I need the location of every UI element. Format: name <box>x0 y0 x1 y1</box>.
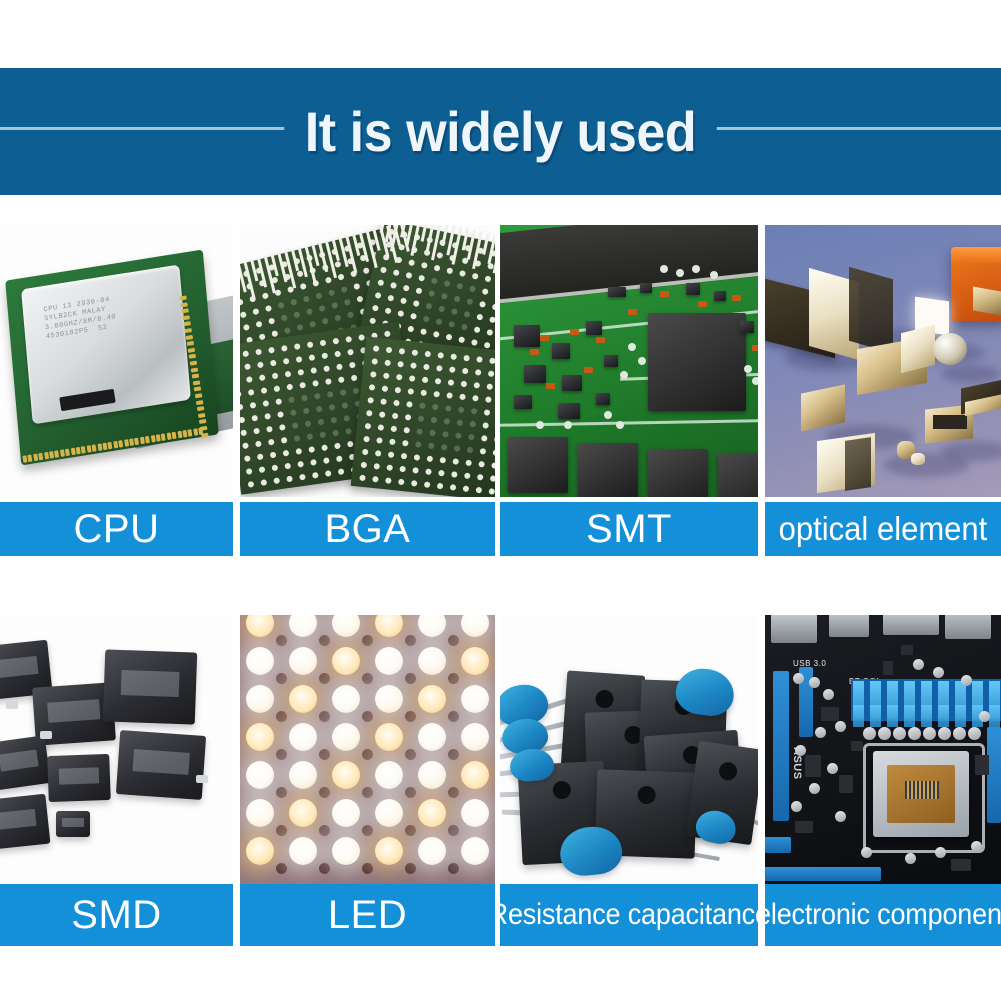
smd-components-photo <box>0 615 233 887</box>
cpu-processor-photo: CPU i3 2930-04SYLB2CK MALAY3.80GHZ/8M/8.… <box>0 225 233 497</box>
grid-cell-smd[interactable]: SMD <box>0 615 233 946</box>
label-text-electronic-component: electronic component <box>765 893 1001 937</box>
label-bar-optical-element: optical element <box>765 502 1001 556</box>
label-text-led: LED <box>328 893 407 937</box>
header-banner: It is widely used <box>0 68 1001 195</box>
label-bar-smt: SMT <box>500 502 758 556</box>
label-text-resistance-capacitance: Resistance capacitance <box>500 893 758 937</box>
label-text-smd: SMD <box>71 893 161 937</box>
label-bar-electronic-component: electronic component <box>765 884 1001 946</box>
label-text-cpu: CPU <box>74 507 160 551</box>
grid-cell-led[interactable]: LED <box>240 615 495 946</box>
label-bar-led: LED <box>240 884 495 946</box>
grid-cell-resistance-capacitance[interactable]: Resistance capacitance <box>500 615 758 946</box>
banner-arrow-notch-icon <box>470 972 532 1001</box>
transistors-capacitors-photo <box>500 615 758 887</box>
label-bar-bga: BGA <box>240 502 495 556</box>
infographic-page: It is widely used CPU i3 2930-04SYLB2CK … <box>0 0 1001 1001</box>
label-text-bga: BGA <box>325 507 411 551</box>
label-bar-cpu: CPU <box>0 502 233 556</box>
label-text-optical-element: optical element <box>779 507 988 551</box>
grid-cell-cpu[interactable]: CPU i3 2930-04SYLB2CK MALAY3.80GHZ/8M/8.… <box>0 225 233 556</box>
product-grid: CPU i3 2930-04SYLB2CK MALAY3.80GHZ/8M/8.… <box>0 225 1001 946</box>
smt-circuit-board-photo <box>500 225 758 497</box>
grid-cell-bga[interactable]: BGA <box>240 225 495 556</box>
grid-cell-electronic-component[interactable]: USB 3.0 BT GO! ASUS electronic component <box>765 615 1001 946</box>
grid-cell-optical-element[interactable]: optical element <box>765 225 1001 556</box>
page-title-text: It is widely used <box>284 101 716 163</box>
grid-row-1: CPU i3 2930-04SYLB2CK MALAY3.80GHZ/8M/8.… <box>0 225 1001 556</box>
label-bar-resistance-capacitance: Resistance capacitance <box>500 884 758 946</box>
optical-prisms-photo <box>765 225 1001 497</box>
bga-substrate-photo <box>240 225 495 497</box>
led-matrix-photo <box>240 615 495 887</box>
label-bar-smd: SMD <box>0 884 233 946</box>
page-title: It is widely used <box>0 68 1001 195</box>
grid-row-2: SMD LED <box>0 615 1001 946</box>
label-text-smt: SMT <box>586 507 672 551</box>
grid-cell-smt[interactable]: SMT <box>500 225 758 556</box>
motherboard-photo: USB 3.0 BT GO! ASUS <box>765 615 1001 887</box>
